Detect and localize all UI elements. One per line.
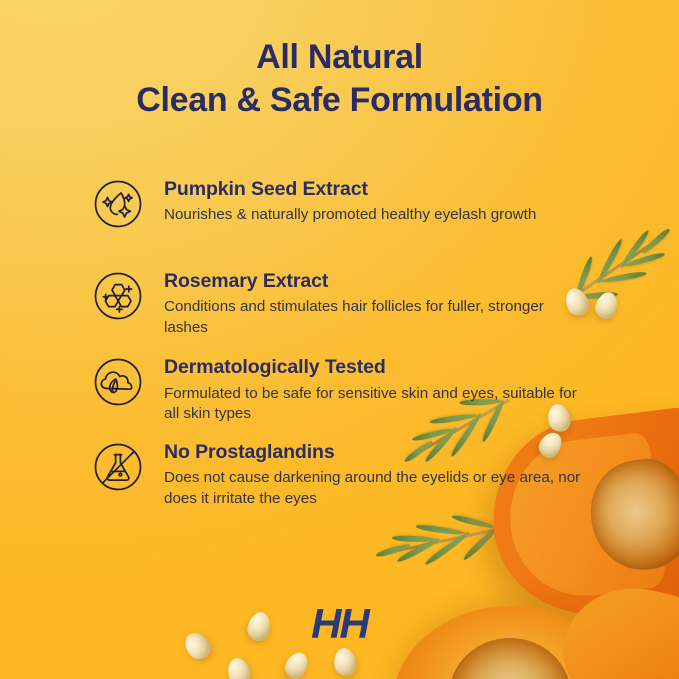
molecule-hexagon-icon (90, 268, 146, 324)
page-title: All Natural Clean & Safe Formulation (0, 36, 679, 122)
feature-list: Pumpkin Seed Extract Nourishes & natural… (90, 176, 617, 509)
no-flask-icon (90, 439, 146, 495)
feature-description: Conditions and stimulates hair follicles… (164, 297, 584, 338)
feature-text-block: Rosemary Extract Conditions and stimulat… (164, 268, 584, 338)
feature-item-pumpkin-seed-extract: Pumpkin Seed Extract Nourishes & natural… (90, 176, 617, 242)
feature-title: No Prostaglandins (164, 441, 584, 463)
feature-title: Dermatologically Tested (164, 356, 584, 378)
feature-description: Nourishes & naturally promoted healthy e… (164, 205, 536, 226)
cloud-leaf-icon (90, 354, 146, 410)
feature-item-rosemary-extract: Rosemary Extract Conditions and stimulat… (90, 268, 617, 338)
droplet-sparkle-icon (90, 176, 146, 232)
feature-item-dermatologically-tested: Dermatologically Tested Formulated to be… (90, 354, 617, 424)
feature-title: Pumpkin Seed Extract (164, 178, 536, 200)
feature-description: Does not cause darkening around the eyel… (164, 468, 584, 509)
infographic-canvas: All Natural Clean & Safe Formulation (0, 0, 679, 679)
feature-description: Formulated to be safe for sensitive skin… (164, 384, 584, 425)
brand-logo: HH (0, 600, 679, 648)
feature-text-block: Dermatologically Tested Formulated to be… (164, 354, 584, 424)
headline-line-1: All Natural (0, 36, 679, 79)
infographic-content: All Natural Clean & Safe Formulation (0, 0, 679, 679)
feature-text-block: Pumpkin Seed Extract Nourishes & natural… (164, 176, 536, 226)
feature-title: Rosemary Extract (164, 270, 584, 292)
feature-text-block: No Prostaglandins Does not cause darkeni… (164, 439, 584, 509)
feature-item-no-prostaglandins: No Prostaglandins Does not cause darkeni… (90, 439, 617, 509)
headline-line-2: Clean & Safe Formulation (0, 79, 679, 122)
